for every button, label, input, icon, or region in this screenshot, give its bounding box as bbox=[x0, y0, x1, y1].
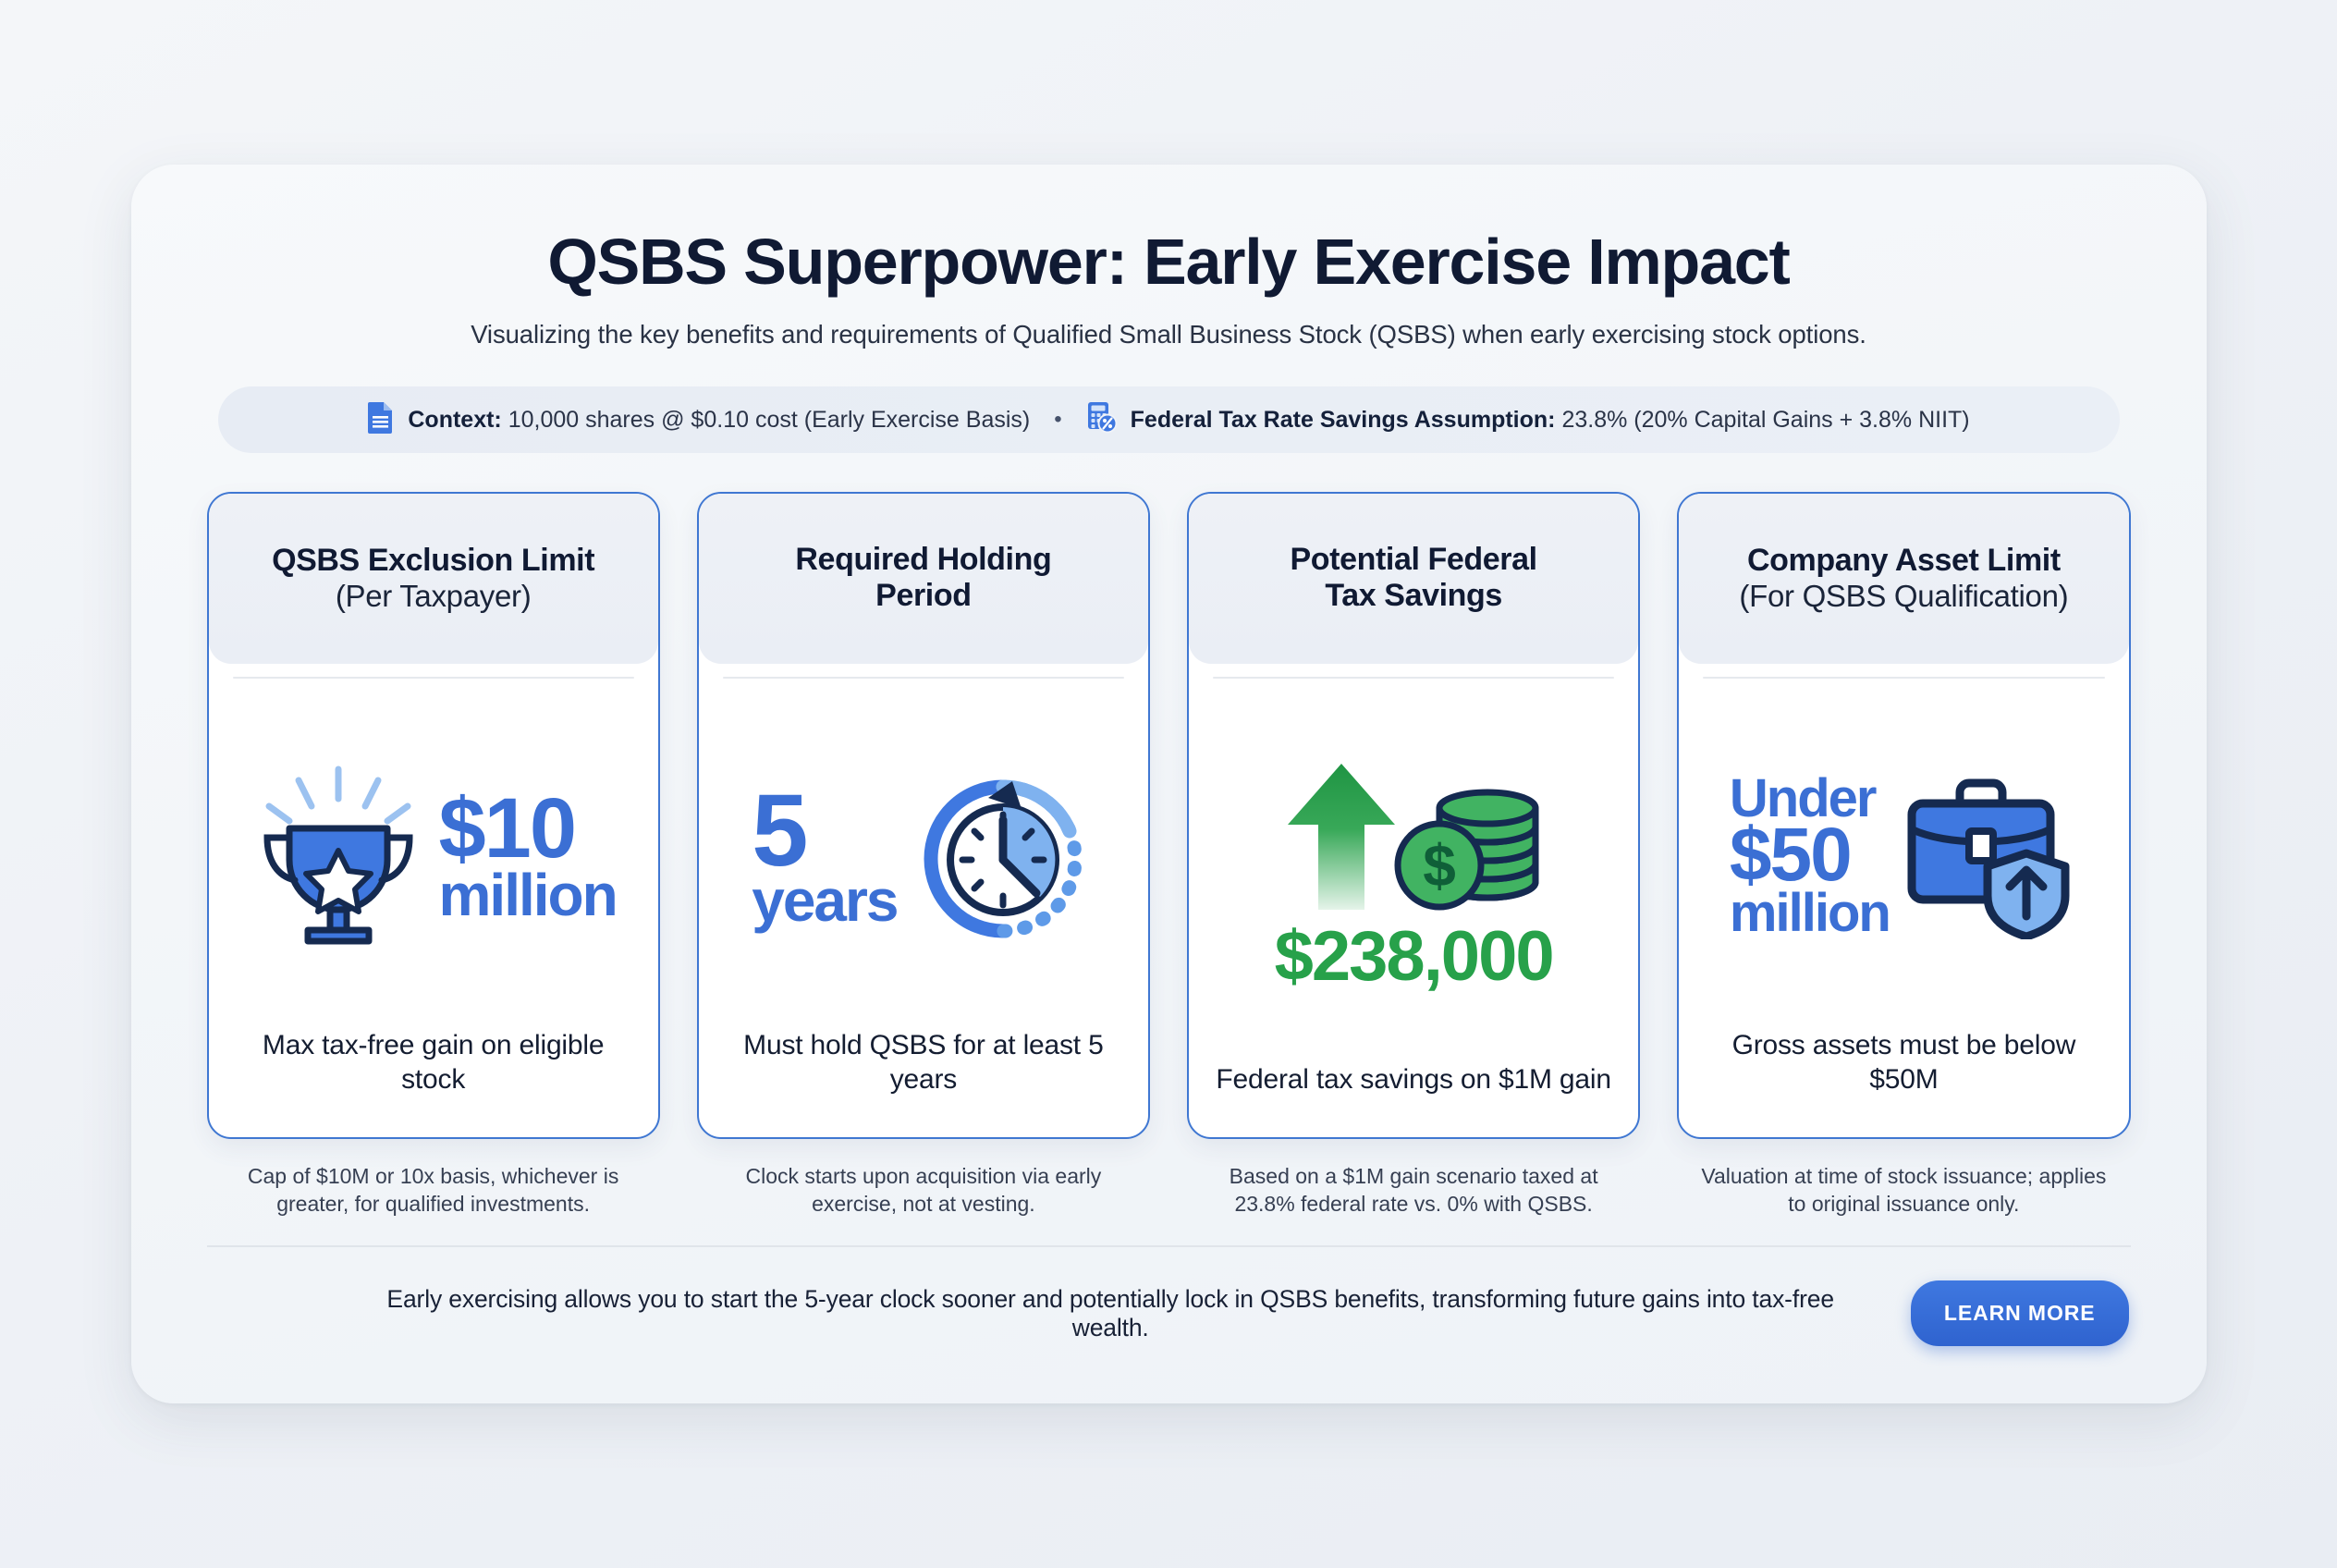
context-taxrate-strong: Federal Tax Rate Savings Assumption: bbox=[1131, 407, 1556, 433]
card-footnote: Clock starts upon acquisition via early … bbox=[697, 1163, 1150, 1218]
page-title: QSBS Superpower: Early Exercise Impact bbox=[194, 227, 2144, 296]
card-subtitle: Period bbox=[719, 578, 1128, 614]
card-required-holding-period[interactable]: Required Holding Period 5 years bbox=[697, 492, 1150, 1139]
card-title: Required Holding bbox=[719, 542, 1128, 578]
card-subtitle: (Per Taxpayer) bbox=[229, 579, 638, 614]
clock-value-row: 5 years bbox=[717, 766, 1130, 947]
card-header: Potential Federal Tax Savings bbox=[1189, 494, 1638, 664]
calculator-percent-icon bbox=[1086, 400, 1118, 440]
card-body: 5 years bbox=[699, 679, 1148, 1137]
card-title: Company Asset Limit bbox=[1699, 543, 2108, 579]
card-description: Gross assets must be below $50M bbox=[1697, 1028, 2110, 1113]
card-column-exclusion-limit: QSBS Exclusion Limit (Per Taxpayer) bbox=[207, 492, 660, 1218]
savings-visual-stack: $ $238,000 bbox=[1275, 756, 1553, 991]
infographic-panel: QSBS Superpower: Early Exercise Impact V… bbox=[131, 165, 2207, 1403]
asset-value-block: Under $50 million bbox=[1730, 773, 1890, 939]
holding-value-primary: 5 bbox=[752, 782, 806, 880]
trophy-value-row: $10 million bbox=[227, 762, 640, 951]
card-header: Company Asset Limit (For QSBS Qualificat… bbox=[1679, 494, 2128, 664]
card-title: Potential Federal bbox=[1209, 542, 1618, 578]
arrow-up-coins-icon: $ bbox=[1275, 756, 1552, 918]
card-company-asset-limit[interactable]: Company Asset Limit (For QSBS Qualificat… bbox=[1677, 492, 2130, 1139]
clock-arrow-icon bbox=[911, 766, 1095, 947]
asset-value-primary: $50 bbox=[1730, 819, 1851, 892]
card-qsbs-exclusion-limit[interactable]: QSBS Exclusion Limit (Per Taxpayer) bbox=[207, 492, 660, 1139]
card-description: Must hold QSBS for at least 5 years bbox=[717, 1028, 1130, 1113]
footer: Early exercising allows you to start the… bbox=[194, 1280, 2144, 1346]
card-description: Max tax-free gain on eligible stock bbox=[227, 1028, 640, 1113]
svg-text:$: $ bbox=[1423, 832, 1456, 899]
holding-value-secondary: years bbox=[752, 873, 897, 929]
card-body: $ $238,000 Federal tax savings on $1M ga… bbox=[1189, 679, 1638, 1137]
card-footnote: Valuation at time of stock issuance; app… bbox=[1677, 1163, 2130, 1218]
card-visual: 5 years bbox=[717, 684, 1130, 1028]
card-title: QSBS Exclusion Limit bbox=[229, 543, 638, 579]
card-header: QSBS Exclusion Limit (Per Taxpayer) bbox=[209, 494, 658, 664]
card-subtitle: Tax Savings bbox=[1209, 578, 1618, 614]
card-body: Under $50 million bbox=[1679, 679, 2128, 1137]
exclusion-value-secondary: million bbox=[439, 867, 617, 924]
card-column-asset-limit: Company Asset Limit (For QSBS Qualificat… bbox=[1677, 492, 2130, 1218]
context-separator: • bbox=[1054, 409, 1061, 431]
card-header: Required Holding Period bbox=[699, 494, 1148, 664]
card-column-tax-savings: Potential Federal Tax Savings bbox=[1187, 492, 1640, 1218]
exclusion-value-primary: $10 bbox=[439, 788, 576, 869]
footer-divider bbox=[207, 1245, 2131, 1247]
card-column-holding-period: Required Holding Period 5 years bbox=[697, 492, 1150, 1218]
learn-more-button[interactable]: LEARN MORE bbox=[1911, 1280, 2129, 1346]
exclusion-value-block: $10 million bbox=[439, 788, 617, 925]
card-footnote: Based on a $1M gain scenario taxed at 23… bbox=[1187, 1163, 1640, 1218]
savings-value: $238,000 bbox=[1275, 924, 1553, 991]
holding-value-block: 5 years bbox=[752, 782, 897, 929]
card-description: Federal tax savings on $1M gain bbox=[1216, 1062, 1610, 1113]
card-potential-federal-tax-savings[interactable]: Potential Federal Tax Savings bbox=[1187, 492, 1640, 1139]
card-visual: $ $238,000 bbox=[1207, 684, 1620, 1062]
context-taxrate-value: 23.8% (20% Capital Gains + 3.8% NIIT) bbox=[1561, 407, 1969, 433]
cards-row: QSBS Exclusion Limit (Per Taxpayer) bbox=[194, 492, 2144, 1218]
context-item-taxrate: Federal Tax Rate Savings Assumption: 23.… bbox=[1086, 400, 1970, 440]
card-footnote: Cap of $10M or 10x basis, whichever is g… bbox=[207, 1163, 660, 1218]
context-item-shares: Context: 10,000 shares @ $0.10 cost (Ear… bbox=[367, 400, 1030, 440]
card-visual: $10 million bbox=[227, 684, 640, 1028]
asset-value-unit: million bbox=[1730, 888, 1890, 939]
trophy-star-icon bbox=[251, 762, 426, 951]
context-shares-value: 10,000 shares @ $0.10 cost (Early Exerci… bbox=[508, 407, 1031, 433]
card-body: $10 million Max tax-free gain on eligibl… bbox=[209, 679, 658, 1137]
briefcase-shield-icon bbox=[1903, 768, 2078, 944]
context-shares-label: Context: 10,000 shares @ $0.10 cost (Ear… bbox=[408, 407, 1030, 434]
context-bar: Context: 10,000 shares @ $0.10 cost (Ear… bbox=[218, 386, 2120, 453]
page-subtitle: Visualizing the key benefits and require… bbox=[194, 320, 2144, 349]
asset-value-row: Under $50 million bbox=[1697, 768, 2110, 944]
document-icon bbox=[367, 400, 395, 440]
footer-text: Early exercising allows you to start the… bbox=[209, 1285, 1874, 1342]
card-subtitle: (For QSBS Qualification) bbox=[1699, 579, 2108, 614]
card-visual: Under $50 million bbox=[1697, 684, 2110, 1028]
context-shares-strong: Context: bbox=[408, 407, 501, 433]
context-taxrate-label: Federal Tax Rate Savings Assumption: 23.… bbox=[1131, 407, 1970, 434]
